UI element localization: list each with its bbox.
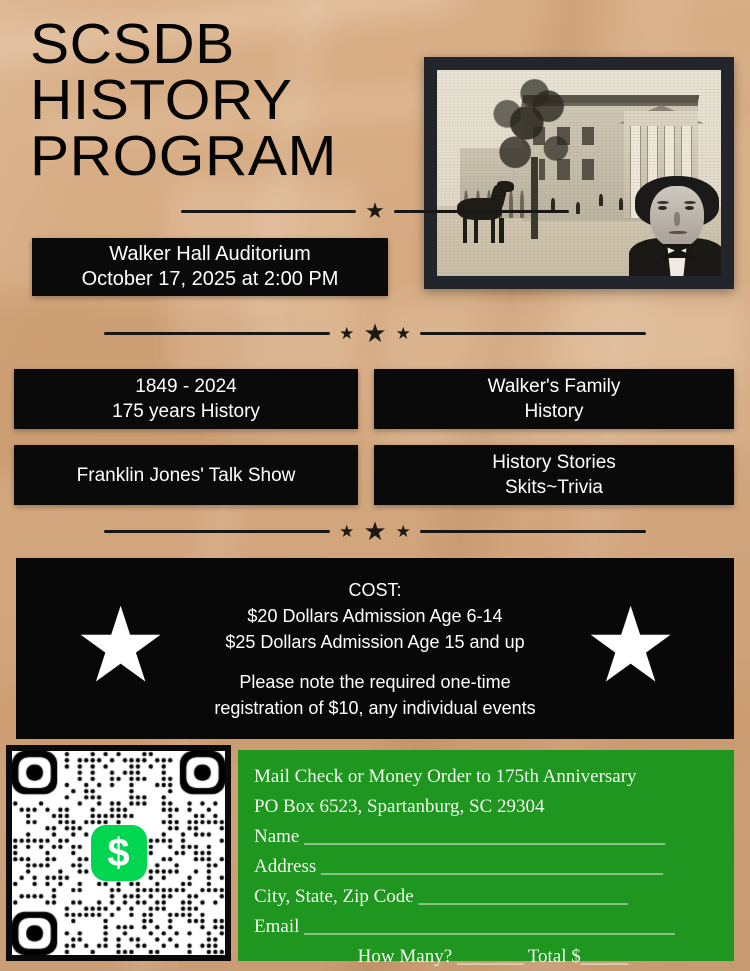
- poster-title: SCSDB HISTORY PROGRAM: [30, 16, 442, 184]
- program-box-line-1: Franklin Jones' Talk Show: [77, 463, 296, 488]
- program-box-line-2: Skits~Trivia: [505, 475, 603, 500]
- divider-line-left: [104, 530, 330, 533]
- cashapp-dollar-icon: $: [91, 825, 147, 881]
- star-icon: ★: [396, 523, 411, 540]
- program-box-line-1: History Stories: [492, 450, 616, 475]
- form-field-how-many-total[interactable]: How Many? _______ Total $_____: [254, 942, 722, 971]
- historic-building-photo: [437, 70, 721, 276]
- qr-code-block[interactable]: $: [6, 745, 231, 961]
- cost-note-1: Please note the required one-time: [239, 669, 510, 695]
- form-field-email[interactable]: Email __________________________________…: [254, 912, 722, 942]
- cost-heading: COST:: [348, 577, 401, 603]
- program-box-anniversary: 1849 - 2024 175 years History: [14, 369, 358, 429]
- divider-line-right: [420, 530, 646, 533]
- divider-line-right: [394, 210, 569, 213]
- divider-line-left: [181, 210, 356, 213]
- star-icon: ★: [363, 518, 386, 544]
- historic-photo-frame: [424, 57, 734, 289]
- form-field-address[interactable]: Address ________________________________…: [254, 852, 722, 882]
- mail-in-form: Mail Check or Money Order to 175th Anniv…: [238, 750, 734, 961]
- cost-text: COST: $20 Dollars Admission Age 6-14 $25…: [16, 558, 734, 739]
- cost-note-2: registration of $10, any individual even…: [214, 695, 535, 721]
- divider-top: ★: [0, 196, 750, 226]
- cashapp-qr-code[interactable]: $: [12, 751, 225, 955]
- divider-line-left: [104, 332, 330, 335]
- form-line-mail-to: Mail Check or Money Order to 175th Anniv…: [254, 762, 722, 792]
- star-icon: ★: [365, 200, 385, 222]
- program-box-line-2: History: [524, 399, 583, 424]
- cost-line-2: $25 Dollars Admission Age 15 and up: [225, 629, 524, 655]
- divider-bottom: ★ ★ ★: [0, 516, 750, 546]
- venue-line-2: October 17, 2025 at 2:00 PM: [82, 267, 339, 292]
- cost-block: ★ ★ COST: $20 Dollars Admission Age 6-14…: [16, 558, 734, 739]
- form-field-name[interactable]: Name ___________________________________…: [254, 822, 722, 852]
- star-icon: ★: [396, 325, 411, 342]
- program-box-line-1: 1849 - 2024: [135, 374, 236, 399]
- form-field-city-state-zip[interactable]: City, State, Zip Code __________________…: [254, 882, 722, 912]
- venue-line-1: Walker Hall Auditorium: [109, 242, 311, 267]
- program-box-talk-show: Franklin Jones' Talk Show: [14, 445, 358, 505]
- program-box-walker-family: Walker's Family History: [374, 369, 734, 429]
- program-box-line-2: 175 years History: [112, 399, 260, 424]
- poster-canvas: SCSDB HISTORY PROGRAM: [0, 0, 750, 971]
- star-icon: ★: [339, 523, 354, 540]
- star-icon: ★: [363, 320, 386, 346]
- founder-portrait: [629, 176, 721, 276]
- divider-line-right: [420, 332, 646, 335]
- divider-mid: ★ ★ ★: [0, 318, 750, 348]
- star-icon: ★: [339, 325, 354, 342]
- cost-line-1: $20 Dollars Admission Age 6-14: [247, 603, 502, 629]
- form-line-po-box: PO Box 6523, Spartanburg, SC 29304: [254, 792, 722, 822]
- program-box-line-1: Walker's Family: [488, 374, 621, 399]
- venue-block: Walker Hall Auditorium October 17, 2025 …: [32, 238, 388, 296]
- program-box-history-stories: History Stories Skits~Trivia: [374, 445, 734, 505]
